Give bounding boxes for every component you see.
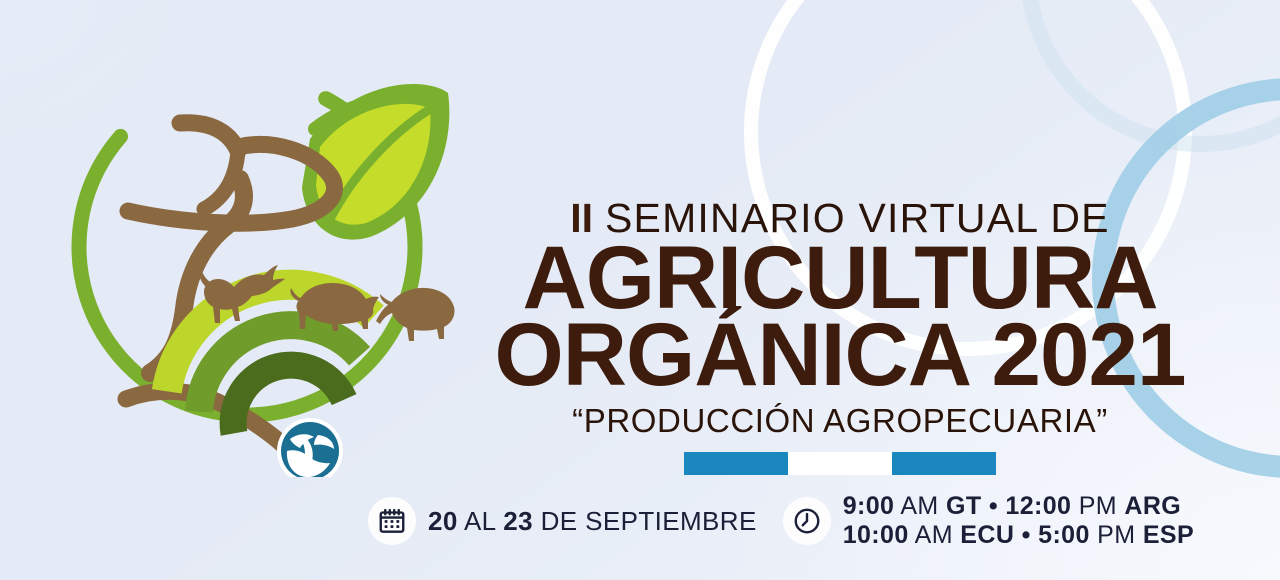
event-banner: II SEMINARIO VIRTUAL DE AGRICULTURA ORGÁ…	[0, 0, 1280, 580]
time-2-separator: •	[1022, 521, 1031, 549]
event-date-item: 20 AL 23 DE SEPTIEMBRE	[368, 497, 757, 545]
date-connector: AL	[464, 506, 496, 536]
time-1-start-zone: GT	[946, 492, 982, 520]
event-time-text: 9:00 AM GT • 12:00 PM ARG 10:00 AM ECU •…	[843, 492, 1194, 550]
agricultura-organica-logo	[62, 47, 462, 477]
decorative-blue-ring-faint	[1020, 0, 1280, 152]
clock-icon	[783, 497, 831, 545]
subtitle-text: “PRODUCCIÓN AGROPECUARIA”	[470, 402, 1210, 440]
calendar-icon	[368, 497, 416, 545]
time-2-start: 10:00	[843, 521, 909, 549]
date-day-start: 20	[428, 506, 458, 536]
event-info-row: 20 AL 23 DE SEPTIEMBRE 9:00 AM GT • 12	[368, 484, 1248, 558]
time-1-end-zone: ARG	[1124, 492, 1181, 520]
title-block: II SEMINARIO VIRTUAL DE AGRICULTURA ORGÁ…	[470, 198, 1210, 475]
time-2-end: 5:00	[1038, 521, 1090, 549]
time-2-start-zone: ECU	[960, 521, 1014, 549]
time-line-2: 10:00 AM ECU • 5:00 PM ESP	[843, 521, 1194, 549]
guatemala-flag-bar	[684, 452, 996, 475]
event-time-item: 9:00 AM GT • 12:00 PM ARG 10:00 AM ECU •…	[783, 492, 1194, 550]
flag-stripe-left	[684, 452, 788, 475]
time-2-end-zone: ESP	[1143, 521, 1194, 549]
time-line-1: 9:00 AM GT • 12:00 PM ARG	[843, 492, 1181, 520]
flag-stripe-right	[892, 452, 996, 475]
time-1-start-meridiem: AM	[900, 492, 938, 520]
time-1-start: 9:00	[843, 492, 895, 520]
time-1-separator: •	[989, 492, 998, 520]
date-month: DE SEPTIEMBRE	[541, 506, 757, 536]
flag-stripe-center	[788, 452, 892, 475]
logo-emblem-icon	[277, 418, 343, 477]
date-day-end: 23	[503, 506, 533, 536]
time-1-end: 12:00	[1005, 492, 1071, 520]
time-1-end-meridiem: PM	[1079, 492, 1117, 520]
time-2-start-meridiem: AM	[915, 521, 953, 549]
headline-line-2: ORGÁNICA 2021	[470, 313, 1210, 396]
time-2-end-meridiem: PM	[1097, 521, 1135, 549]
event-date-text: 20 AL 23 DE SEPTIEMBRE	[428, 506, 757, 536]
